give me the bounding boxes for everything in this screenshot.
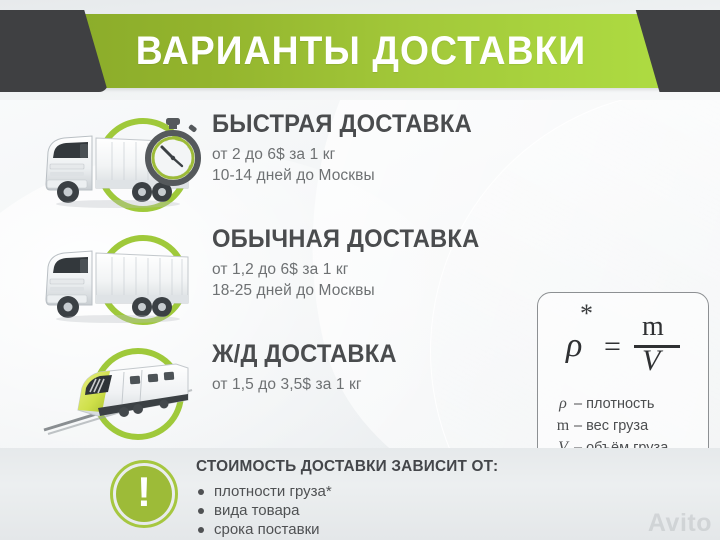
- legend-text: вес груза: [586, 418, 648, 434]
- list-item: срока поставки: [196, 520, 526, 539]
- cost-factors-list: плотности груза* вида товара срока поста…: [196, 482, 526, 539]
- legend-item: ρ– плотность: [552, 393, 702, 415]
- list-item: плотности груза*: [196, 482, 526, 501]
- delivery-option-rail-text: Ж/Д ДОСТАВКА от 1,5 до 3,5$ за 1 кг: [212, 340, 407, 394]
- legend-text: плотность: [586, 396, 654, 412]
- equals-symbol: =: [604, 330, 621, 364]
- delivery-option-duration: 18-25 дней до Москвы: [212, 282, 493, 300]
- mass-symbol: m: [642, 311, 664, 343]
- legend-dash: –: [574, 418, 582, 434]
- header-banner: ВАРИАНТЫ ДОСТАВКИ: [0, 0, 720, 100]
- delivery-option-title: Ж/Д ДОСТАВКА: [212, 340, 397, 369]
- exclamation-mark-glyph: !: [110, 464, 178, 520]
- legend-item: m– вес груза: [552, 415, 702, 437]
- volume-symbol: V: [642, 344, 660, 378]
- cost-factors-title: СТОИМОСТЬ ДОСТАВКИ ЗАВИСИТ ОТ:: [196, 458, 513, 476]
- delivery-option-price: от 2 до 6$ за 1 кг: [212, 146, 486, 164]
- legend-symbol: m: [552, 415, 574, 436]
- delivery-option-title: ОБЫЧНАЯ ДОСТАВКА: [212, 225, 479, 254]
- delivery-option-price: от 1,2 до 6$ за 1 кг: [212, 261, 493, 279]
- stopwatch-icon: [142, 118, 204, 186]
- legend-dash: –: [574, 396, 582, 412]
- train-icon: [38, 350, 206, 438]
- delivery-options-poster: ВАРИАНТЫ ДОСТАВКИ: [0, 0, 720, 540]
- delivery-option-fast-text: БЫСТРАЯ ДОСТАВКА от 2 до 6$ за 1 кг 10-1…: [212, 110, 486, 185]
- cost-factors-block: СТОИМОСТЬ ДОСТАВКИ ЗАВИСИТ ОТ: плотности…: [196, 458, 526, 539]
- delivery-option-duration: 10-14 дней до Москвы: [212, 167, 486, 185]
- list-item: вида товара: [196, 501, 526, 520]
- header-green-band: ВАРИАНТЫ ДОСТАВКИ: [50, 14, 672, 88]
- delivery-option-fast-graphic: [30, 110, 200, 214]
- delivery-option-title: БЫСТРАЯ ДОСТАВКА: [212, 110, 472, 139]
- delivery-option-regular-text: ОБЫЧНАЯ ДОСТАВКА от 1,2 до 6$ за 1 кг 18…: [212, 225, 493, 300]
- delivery-option-price: от 1,5 до 3,5$ за 1 кг: [212, 376, 407, 394]
- truck-icon: [38, 233, 206, 325]
- exclamation-icon: !: [110, 460, 178, 528]
- density-equation: ρ = m V: [560, 313, 690, 385]
- page-title: ВАРИАНТЫ ДОСТАВКИ: [72, 14, 650, 88]
- rho-symbol: ρ: [566, 327, 582, 365]
- legend-symbol: ρ: [552, 393, 574, 414]
- delivery-option-regular-graphic: [30, 225, 200, 329]
- avito-watermark: Avito: [648, 509, 712, 538]
- delivery-option-rail-graphic: [30, 340, 200, 444]
